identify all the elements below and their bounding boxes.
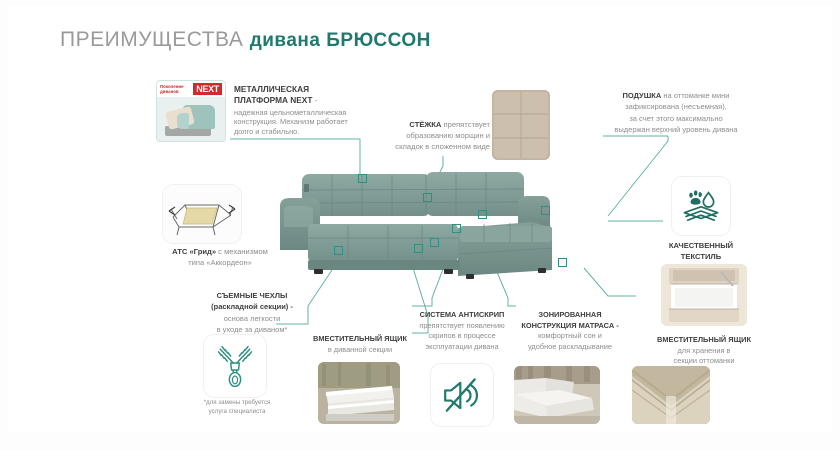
annotation-platform-heading: МЕТАЛЛИЧЕСКАЯ <box>234 84 309 94</box>
hotspot-marker-textile[interactable] <box>541 206 550 215</box>
badge-generation-text: Поколение диванов <box>160 84 184 94</box>
annotation-mattress-heading: ЗОНИРОВАННАЯ <box>538 310 601 319</box>
hotspot-marker-covers[interactable] <box>334 246 343 255</box>
annotation-covers-body2: в уходе за диваном* <box>186 324 318 335</box>
unfolded-sofa-bed-drawing <box>514 366 600 424</box>
annotation-grid-body: с механизмом <box>216 247 268 256</box>
annotation-pillow: ПОДУШКА на оттоманке мини зафиксирована … <box>580 90 772 135</box>
annotation-quilting-body3: складок в сложенном виде <box>380 141 490 152</box>
annotation-mattress-body2: удобное раскладывание <box>508 342 632 353</box>
annotation-antisqueak: СИСТЕМА АНТИСКРИП препятствует появлению… <box>406 310 518 353</box>
annotation-sofa-storage-heading: ВМЕСТИТЕЛЬНЫЙ ЯЩИК <box>313 334 407 343</box>
grid-frame-photo <box>163 185 241 243</box>
cushion-quilt-lines <box>492 90 550 160</box>
annotation-covers-heading2: (раскладной секции) - <box>211 302 293 311</box>
annotation-mattress: ЗОНИРОВАННАЯ КОНСТРУКЦИЯ МАТРАСА - комфо… <box>508 310 632 353</box>
annotation-antisqueak-body: препятствует появлению <box>406 321 518 332</box>
annotation-quilting-heading: СТЁЖКА <box>409 120 441 129</box>
annotation-antisqueak-body2: скрипов в процессе <box>406 331 518 342</box>
hotspot-marker-storage[interactable] <box>414 244 423 253</box>
zipper-icon <box>215 344 255 389</box>
hotspot-marker-quilting[interactable] <box>423 193 432 202</box>
covers-footnote-line1: *для замены требуется <box>184 398 290 407</box>
mattress-unfolded-photo <box>514 366 600 424</box>
badge-top-bar: Поколение диванов NEXT <box>157 81 225 97</box>
annotation-grid-body2: типа «Аккордеон» <box>156 257 284 268</box>
annotation-quilting: СТЁЖКА препятствует образованию морщин и… <box>380 119 490 152</box>
grid-frame-sketch <box>163 185 241 243</box>
annotation-platform-heading2: ПЛАТФОРМА NEXT <box>234 95 312 105</box>
annotation-pillow-body2: зафиксирована (несъемная), <box>580 101 772 112</box>
muted-speaker-icon <box>441 376 483 415</box>
annotation-grid: АТС «Грид» с механизмом типа «Аккордеон» <box>156 246 284 268</box>
badge-armchair-image <box>157 97 225 142</box>
teal-corner-sofa-drawing <box>270 166 610 298</box>
hotspot-marker-mattress[interactable] <box>452 224 461 233</box>
sofa-main-image <box>270 166 610 298</box>
hotspot-marker-antisqueak[interactable] <box>430 238 439 247</box>
annotation-quilting-body2: образованию морщин и <box>380 130 490 141</box>
annotation-antisqueak-heading: СИСТЕМА АНТИСКРИП <box>420 310 505 319</box>
annotation-pillow-heading: ПОДУШКА <box>623 91 662 100</box>
wood-corner-photo <box>632 366 710 424</box>
annotation-mattress-body: комфортный сон и <box>508 331 632 342</box>
content-panel: ПРЕИМУЩЕСТВА дивана БРЮССОН <box>8 6 832 432</box>
wooden-corner-drawing <box>632 366 710 424</box>
annotation-pillow-body: на оттоманке мини <box>661 91 729 100</box>
annotation-grid-heading: АТС «Грид» <box>172 247 216 256</box>
annotation-ottoman-storage: ВМЕСТИТЕЛЬНЫЙ ЯЩИК для хранения в секции… <box>642 335 766 367</box>
annotation-textile-heading: КАЧЕСТВЕННЫЙ <box>669 241 733 250</box>
annotation-mattress-heading2: КОНСТРУКЦИЯ МАТРАСА - <box>521 321 618 330</box>
badge-next-logo: NEXT <box>193 83 222 95</box>
armchair-arm <box>177 113 189 129</box>
annotation-pillow-body3: за счет этого максимально <box>580 113 772 124</box>
annotation-platform-body: надежная цельнометаллическая конструкция… <box>234 108 366 137</box>
removable-covers-icon-tile <box>204 335 266 397</box>
annotation-ottoman-storage-body: для хранения в <box>642 346 766 357</box>
sofa-storage-photo <box>318 362 400 424</box>
connector-pillow-d <box>608 136 668 216</box>
quilted-cushion-photo <box>492 90 550 160</box>
hotspot-marker-platform[interactable] <box>358 174 367 183</box>
badge-gen-line2: диванов <box>160 89 184 94</box>
ottoman-box-drawing <box>661 264 747 326</box>
ottoman-storage-photo <box>661 264 747 326</box>
annotation-sofa-storage: ВМЕСТИТЕЛЬНЫЙ ЯЩИК в диванной секции <box>304 334 416 355</box>
hotspot-marker-ottoman[interactable] <box>558 258 567 267</box>
paw-and-waterdrop-layers-icon <box>681 186 721 226</box>
annotation-platform-dash: - <box>312 95 317 105</box>
annotation-pillow-body4: выдержан верхний уровень дивана <box>580 124 772 135</box>
quality-textile-icon-tile <box>672 177 730 235</box>
antisqueak-icon-tile <box>431 364 493 426</box>
covers-footnote-line2: услуга специалиста <box>184 407 290 416</box>
hotspot-marker-pillow[interactable] <box>478 210 487 219</box>
annotation-quilting-body: препятствует <box>441 120 490 129</box>
annotation-antisqueak-body3: эксплуатации дивана <box>406 342 518 353</box>
annotation-covers-footnote: *для замены требуется услуга специалиста <box>184 398 290 417</box>
annotation-sofa-storage-body: в диванной секции <box>304 345 416 356</box>
annotation-platform: МЕТАЛЛИЧЕСКАЯ ПЛАТФОРМА NEXT - надежная … <box>234 84 366 136</box>
annotation-textile: КАЧЕСТВЕННЫЙ ТЕКСТИЛЬ <box>658 240 744 262</box>
infographic-canvas: ПРЕИМУЩЕСТВА дивана БРЮССОН <box>0 0 840 450</box>
sofa-box-open-drawing <box>318 362 400 424</box>
annotation-textile-heading2: ТЕКСТИЛЬ <box>681 252 721 261</box>
next-guarantee-badge: Поколение диванов NEXT 5 лет гарантии <box>156 80 226 142</box>
annotation-ottoman-storage-heading: ВМЕСТИТЕЛЬНЫЙ ЯЩИК <box>657 335 751 344</box>
annotation-covers-body: основа легкости <box>186 313 318 324</box>
